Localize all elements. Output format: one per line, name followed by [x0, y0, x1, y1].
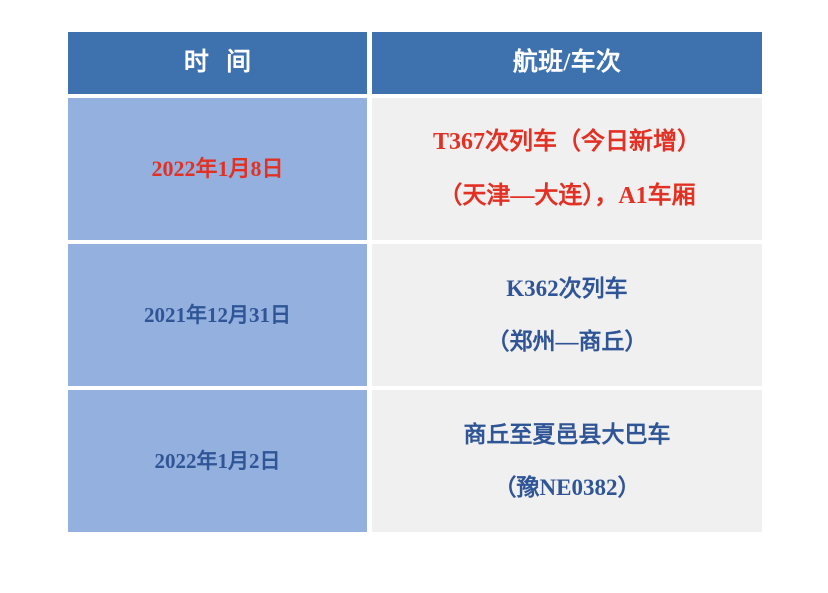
table-header-row: 时 间 航班/车次	[68, 32, 762, 94]
cell-date: 2022年1月2日	[68, 390, 367, 532]
cell-date: 2021年12月31日	[68, 244, 367, 386]
table-row: 2022年1月8日 T367次列车（今日新增） （天津—大连），A1车厢	[68, 98, 762, 240]
cell-train-line-1: K362次列车	[382, 273, 752, 304]
column-header-train: 航班/车次	[372, 32, 762, 94]
cell-train-line-2: （郑州—商丘）	[382, 326, 752, 357]
cell-train: T367次列车（今日新增） （天津—大连），A1车厢	[372, 98, 762, 240]
cell-train-line-2: （豫NE0382）	[382, 472, 752, 503]
table-row: 2021年12月31日 K362次列车 （郑州—商丘）	[68, 244, 762, 386]
cell-train-content: K362次列车 （郑州—商丘）	[372, 273, 762, 357]
column-header-time: 时 间	[68, 32, 367, 94]
cell-date-text: 2022年1月8日	[68, 154, 367, 184]
cell-date: 2022年1月8日	[68, 98, 367, 240]
travel-info-table: 时 间 航班/车次 2022年1月8日 T367次列车（今日新增） （天津—大连…	[63, 28, 767, 536]
cell-train-content: T367次列车（今日新增） （天津—大连），A1车厢	[372, 126, 762, 213]
cell-train: K362次列车 （郑州—商丘）	[372, 244, 762, 386]
table-row: 2022年1月2日 商丘至夏邑县大巴车 （豫NE0382）	[68, 390, 762, 532]
table-header: 时 间 航班/车次	[68, 32, 762, 94]
table-body: 2022年1月8日 T367次列车（今日新增） （天津—大连），A1车厢 202…	[68, 98, 762, 532]
page-canvas: 时 间 航班/车次 2022年1月8日 T367次列车（今日新增） （天津—大连…	[0, 0, 828, 593]
cell-train-line-1: T367次列车（今日新增）	[382, 126, 752, 158]
cell-train: 商丘至夏邑县大巴车 （豫NE0382）	[372, 390, 762, 532]
cell-train-line-2: （天津—大连），A1车厢	[382, 180, 752, 212]
cell-train-line-1: 商丘至夏邑县大巴车	[382, 419, 752, 450]
cell-date-text: 2022年1月2日	[68, 447, 367, 475]
cell-date-text: 2021年12月31日	[68, 301, 367, 329]
cell-train-content: 商丘至夏邑县大巴车 （豫NE0382）	[372, 419, 762, 503]
